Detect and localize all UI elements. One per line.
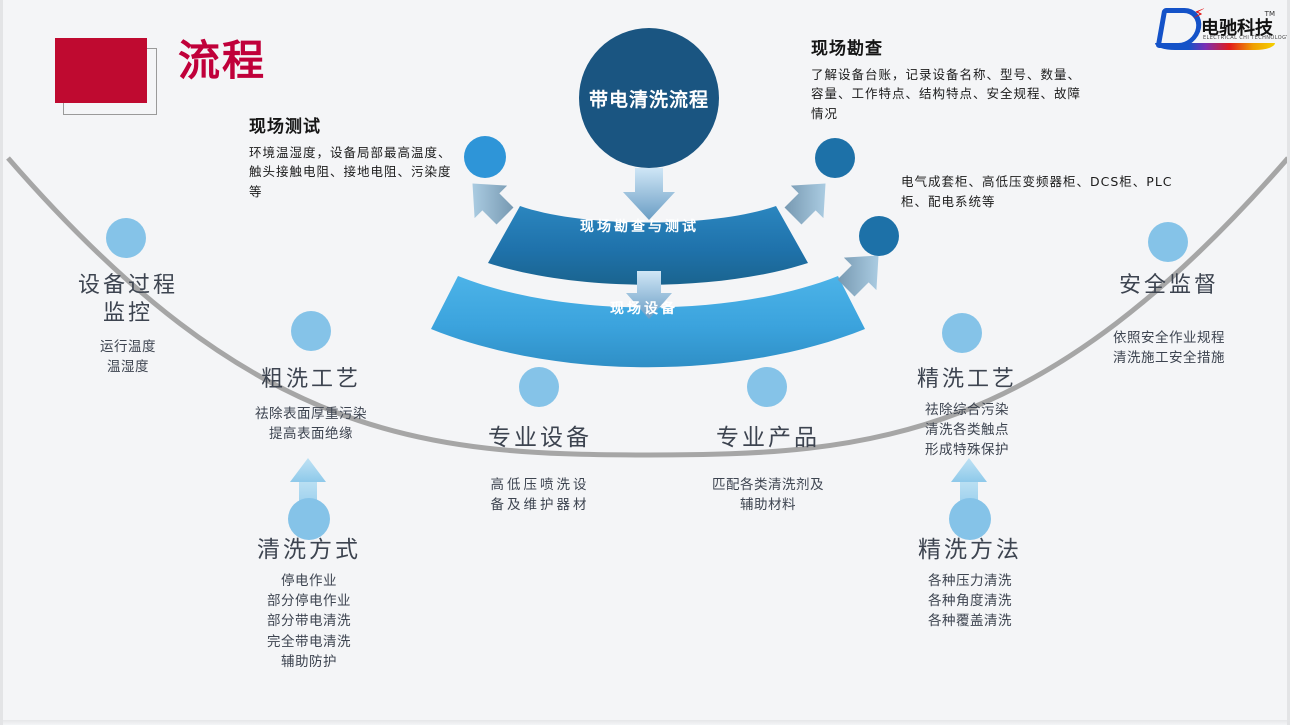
- branch-item-0-title: 清洗方式: [219, 536, 399, 565]
- callout-onsite-survey-heading: 现场勘查: [811, 34, 1081, 59]
- timeline-item-0: 设备过程 监控 运行温度 温湿度: [38, 272, 218, 378]
- timeline-item-4-title: 精洗工艺: [876, 366, 1058, 394]
- timeline-item-0-sub-0: 运行温度: [38, 337, 218, 357]
- timeline-item-3-sub-0: 匹配各类清洗剂及: [675, 475, 861, 495]
- callout-equipment-list: 电气成套柜、高低压变频器柜、DCS柜、PLC柜、配电系统等: [901, 172, 1181, 212]
- timeline-dot-3: [747, 367, 787, 407]
- timeline-dot-1: [291, 311, 331, 351]
- node-survey-dot: [815, 138, 855, 178]
- callout-onsite-test-heading: 现场测试: [249, 112, 454, 137]
- timeline-dot-0: [106, 218, 146, 258]
- timeline-item-3-sub-1: 辅助材料: [675, 495, 861, 515]
- timeline-item-2: 专业设备 高低压喷洗设 备及维护器材: [447, 424, 633, 515]
- branch-item-1-sub-0: 各种压力清洗: [880, 571, 1060, 591]
- branch-item-0-sub-1: 部分停电作业: [219, 591, 399, 611]
- node-test-dot: [464, 136, 506, 178]
- timeline-item-5: 安全监督 依照安全作业规程 清洗施工安全措施: [1078, 272, 1260, 368]
- branch-item-0-sub-3: 完全带电清洗: [219, 632, 399, 652]
- timeline-item-0-title-line1: 设备过程: [38, 272, 218, 300]
- timeline-dot-2: [519, 367, 559, 407]
- timeline-item-2-title: 专业设备: [447, 424, 633, 453]
- branch-item-0: 清洗方式 停电作业 部分停电作业 部分带电清洗 完全带电清洗 辅助防护: [219, 536, 399, 672]
- arrow-down-hub-to-banner1: [623, 168, 675, 220]
- branch-item-1-title: 精洗方法: [880, 536, 1060, 565]
- timeline-item-3-title: 专业产品: [675, 424, 861, 453]
- timeline-dot-4: [942, 313, 982, 353]
- timeline-item-1-title: 粗洗工艺: [215, 366, 407, 394]
- timeline-item-0-sub-1: 温湿度: [38, 357, 218, 377]
- branch-item-0-sub-0: 停电作业: [219, 571, 399, 591]
- branch-item-1: 精洗方法 各种压力清洗 各种角度清洗 各种覆盖清洗: [880, 536, 1060, 632]
- branch-item-0-sub-4: 辅助防护: [219, 652, 399, 672]
- branch-item-1-sub-1: 各种角度清洗: [880, 591, 1060, 611]
- timeline-item-2-sub-1: 备及维护器材: [447, 495, 633, 515]
- hub-circle: 带电清洗流程: [579, 28, 719, 168]
- banner-onsite-equipment-label: 现场设备: [610, 298, 678, 318]
- timeline-item-1: 粗洗工艺 祛除表面厚重污染 提高表面绝缘: [215, 366, 407, 444]
- timeline-item-4-sub-1: 清洗各类触点: [876, 420, 1058, 440]
- node-equipment-dot: [859, 216, 899, 256]
- callout-onsite-test-body: 环境温湿度，设备局部最高温度、触头接触电阻、接地电阻、污染度等: [249, 143, 454, 201]
- callout-onsite-survey-body: 了解设备台账，记录设备名称、型号、数量、容量、工作特点、结构特点、安全规程、故障…: [811, 65, 1081, 123]
- branch-dot-0: [288, 498, 330, 540]
- timeline-item-1-sub-1: 提高表面绝缘: [215, 424, 407, 444]
- timeline-item-3: 专业产品 匹配各类清洗剂及 辅助材料: [675, 424, 861, 515]
- timeline-item-5-sub-0: 依照安全作业规程: [1078, 328, 1260, 348]
- branch-item-0-sub-2: 部分带电清洗: [219, 611, 399, 631]
- branch-dot-1: [949, 498, 991, 540]
- callout-onsite-test: 现场测试 环境温湿度，设备局部最高温度、触头接触电阻、接地电阻、污染度等: [249, 112, 454, 201]
- timeline-item-0-title-line2: 监控: [38, 300, 218, 328]
- branch-item-1-sub-2: 各种覆盖清洗: [880, 611, 1060, 631]
- callout-onsite-survey: 现场勘查 了解设备台账，记录设备名称、型号、数量、容量、工作特点、结构特点、安全…: [811, 34, 1081, 123]
- timeline-item-4-sub-0: 祛除综合污染: [876, 400, 1058, 420]
- timeline-item-4-sub-2: 形成特殊保护: [876, 440, 1058, 460]
- hub-label: 带电清洗流程: [589, 85, 709, 112]
- timeline-item-4: 精洗工艺 祛除综合污染 清洗各类触点 形成特殊保护: [876, 366, 1058, 460]
- timeline-item-2-sub-0: 高低压喷洗设: [447, 475, 633, 495]
- timeline-dot-5: [1148, 222, 1188, 262]
- slide-canvas: 流程 ⚡ 电驰科技 TM ELECTRICAL CHI TECHNOLOGY: [0, 0, 1290, 725]
- timeline-item-1-sub-0: 祛除表面厚重污染: [215, 404, 407, 424]
- timeline-item-5-sub-1: 清洗施工安全措施: [1078, 348, 1260, 368]
- banner-survey-test-label: 现场勘查与测试: [580, 216, 699, 236]
- timeline-item-5-title: 安全监督: [1078, 272, 1260, 300]
